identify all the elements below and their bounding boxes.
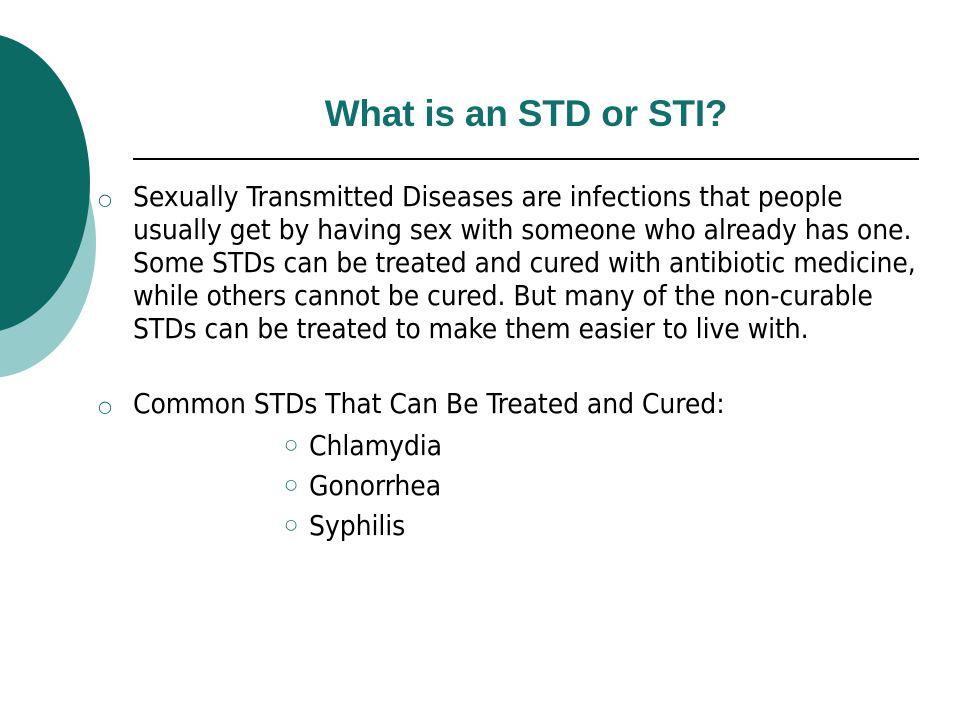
list-item-label: Syphilis (309, 506, 928, 546)
slide-body: ○ Sexually Transmitted Diseases are infe… (98, 180, 928, 546)
list-item: ○ Syphilis (285, 506, 928, 546)
page-title: What is an STD or STI? (133, 92, 919, 136)
list-item-label: Chlamydia (309, 426, 928, 466)
list-item-label: Sexually Transmitted Diseases are infect… (133, 180, 928, 345)
light-teal-circle-icon (0, 108, 96, 378)
list-item-label: Gonorrhea (309, 466, 928, 506)
list-item: ○ Common STDs That Can Be Treated and Cu… (98, 387, 928, 420)
presentation-slide: What is an STD or STI? ○ Sexually Transm… (0, 0, 960, 720)
list-item: ○ Chlamydia (285, 426, 928, 466)
hollow-circle-bullet-icon: ○ (285, 426, 309, 452)
list-item: ○ Sexually Transmitted Diseases are infe… (98, 180, 928, 345)
list-item: ○ Gonorrhea (285, 466, 928, 506)
hollow-circle-bullet-icon: ○ (285, 466, 309, 492)
hollow-circle-bullet-icon: ○ (98, 180, 133, 208)
hollow-circle-bullet-icon: ○ (285, 506, 309, 532)
title-divider (133, 158, 919, 160)
hollow-circle-bullet-icon: ○ (98, 387, 133, 415)
paragraph-spacer (98, 345, 928, 387)
title-block: What is an STD or STI? (133, 92, 919, 136)
dark-teal-circle-icon (0, 33, 90, 333)
list-item-label: Common STDs That Can Be Treated and Cure… (133, 387, 928, 420)
